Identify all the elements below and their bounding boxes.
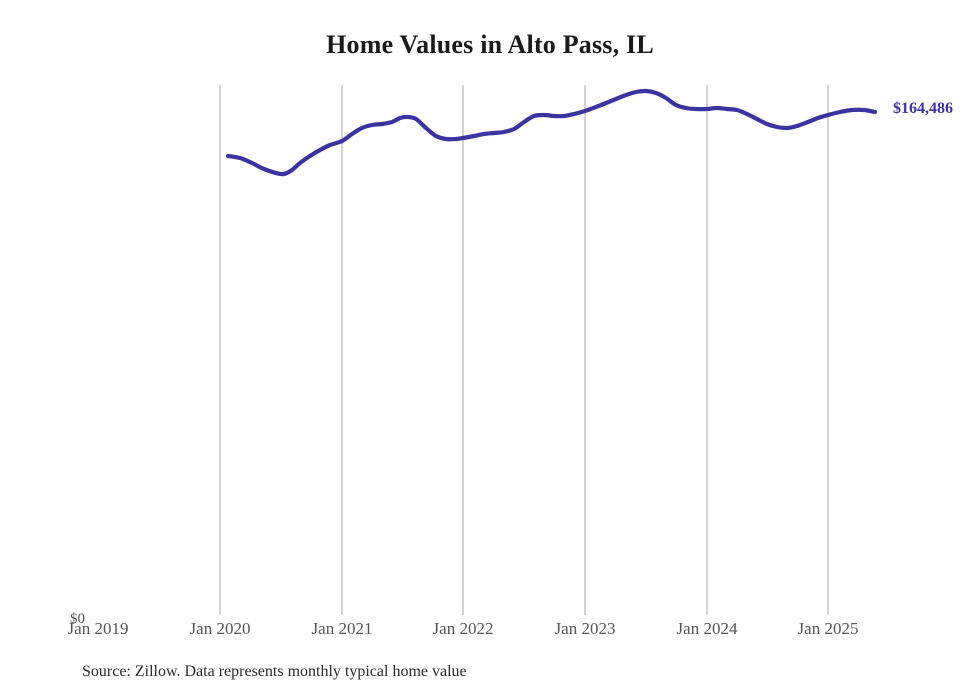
source-note: Source: Zillow. Data represents monthly … (82, 663, 467, 681)
x-axis-tick-0: Jan 2019 (68, 619, 129, 639)
x-axis-tick-2: Jan 2021 (312, 619, 373, 639)
x-axis-tick-1: Jan 2020 (190, 619, 251, 639)
x-axis-tick-4: Jan 2023 (555, 619, 616, 639)
gridline-group (220, 85, 828, 615)
x-axis-tick-5: Jan 2024 (677, 619, 738, 639)
x-axis-tick-3: Jan 2022 (433, 619, 494, 639)
series-line-typical-home-value (228, 91, 875, 174)
chart-plot-area (0, 0, 980, 699)
x-axis-tick-6: Jan 2025 (798, 619, 859, 639)
end-value-label: $164,486 (893, 100, 953, 118)
chart-container: Home Values in Alto Pass, IL $164,486 $0… (0, 0, 980, 699)
